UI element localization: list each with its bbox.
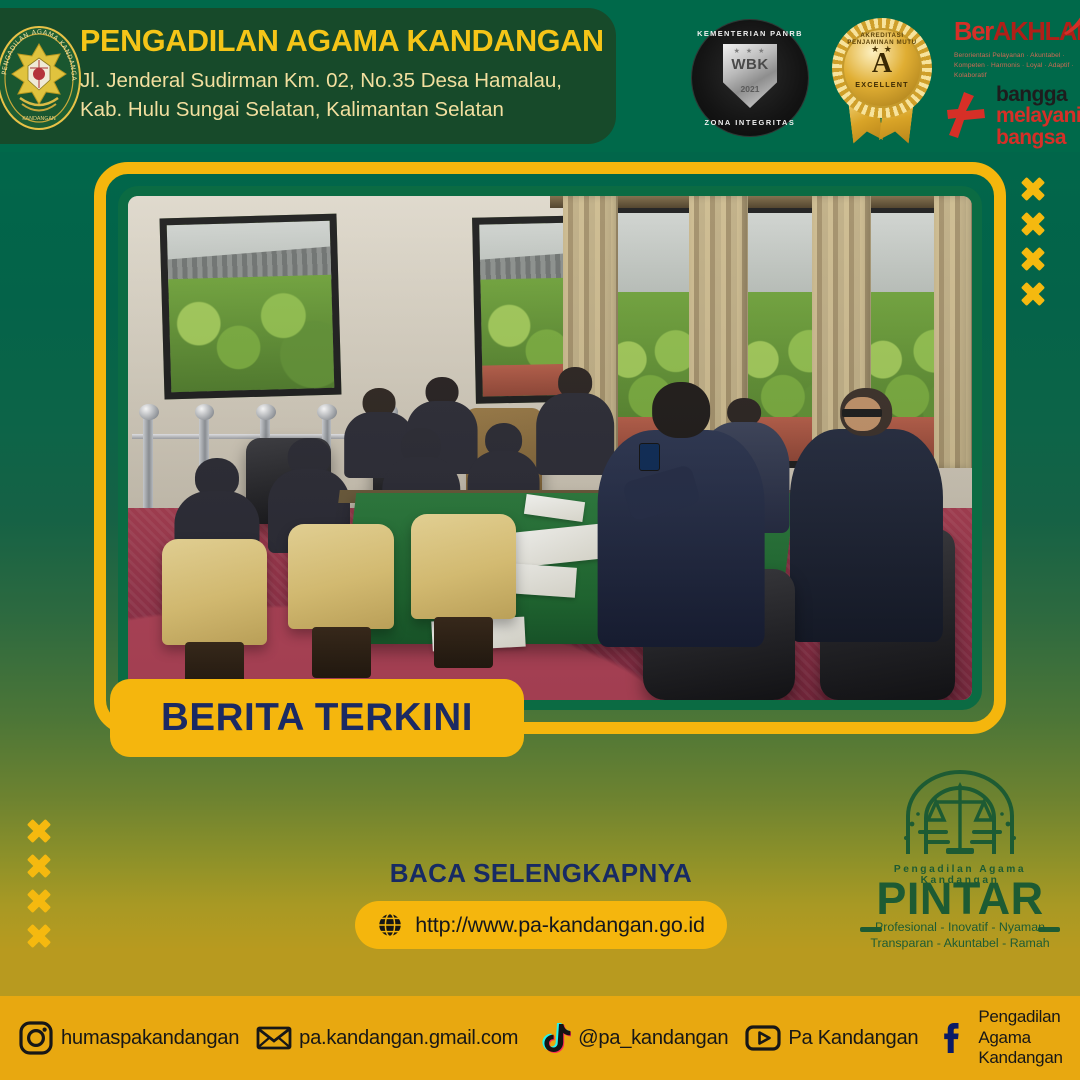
read-more-heading: BACA SELENGKAPNYA	[355, 858, 727, 889]
photo-inner-border	[118, 186, 982, 710]
wbk-year: 2021	[723, 84, 777, 94]
photo-yellow-chair	[162, 539, 268, 645]
tiktok-icon	[535, 1020, 571, 1056]
wbk-ring-bottom-label: ZONA INTEGRITAS	[692, 118, 808, 127]
berita-terkini-banner: BERITA TERKINI	[110, 679, 524, 757]
railing-knob	[195, 404, 214, 420]
social-item-email[interactable]: pa.kandangan.gmail.com	[256, 1020, 518, 1056]
pintar-tagline-2: Transparan - Akuntabel - Ramah	[858, 936, 1062, 950]
photo-yellow-chair	[411, 514, 517, 620]
berakhlak-swoosh-icon	[1062, 13, 1080, 35]
x-decor-column-left	[26, 818, 52, 949]
court-crest-logo: KANDANGAN PENGADILAN AGAMA KANDANGAN	[0, 24, 84, 132]
scales-of-justice-emblem	[898, 768, 1022, 868]
berita-terkini-label: BERITA TERKINI	[161, 696, 473, 740]
railing-knob	[317, 404, 336, 420]
social-item-instagram[interactable]: humaspakandangan	[18, 1020, 239, 1056]
photo-glasses	[842, 409, 882, 417]
wbk-label: WBK	[723, 56, 777, 73]
website-url-text: http://www.pa-kandangan.go.id	[415, 913, 704, 938]
bangga-line-2: melayani	[996, 105, 1080, 126]
bangga-melayani-bangsa-logo: bangga melayani bangsa	[944, 84, 1080, 146]
certification-badges: KEMENTERIAN PANRB ★ ★ ★ WBK 2021 ZONA IN…	[686, 8, 1080, 148]
berakhlak-ber: Ber	[954, 18, 993, 46]
read-more-section: BACA SELENGKAPNYA http://www.pa-kandanga…	[355, 858, 727, 949]
instagram-icon	[18, 1020, 54, 1056]
social-item-youtube[interactable]: Pa Kandangan	[745, 1020, 918, 1056]
facebook-page: Pengadilan Agama Kandangan	[978, 1007, 1080, 1068]
youtube-icon	[745, 1020, 781, 1056]
social-item-facebook[interactable]: Pengadilan Agama Kandangan	[935, 1007, 1080, 1068]
header-panel: KANDANGAN PENGADILAN AGAMA KANDANGAN PEN…	[0, 8, 616, 144]
wbk-ring-top-label: KEMENTERIAN PANRB	[692, 29, 808, 38]
x-cross-decor-icon	[1020, 281, 1046, 307]
website-url-button[interactable]: http://www.pa-kandangan.go.id	[355, 901, 727, 949]
pintar-tagline-1: Profesional - Inovatif - Nyaman	[858, 920, 1062, 934]
photo-person-foreground	[601, 382, 761, 634]
x-cross-decor-icon	[26, 888, 52, 914]
photo-person-judge	[795, 388, 938, 630]
x-cross-decor-icon	[26, 853, 52, 879]
bangga-wordmark: bangga melayani bangsa	[996, 84, 1080, 148]
svg-text:KANDANGAN: KANDANGAN	[22, 116, 56, 122]
x-cross-decor-icon	[1020, 246, 1046, 272]
photo-window	[159, 214, 341, 400]
x-cross-decor-icon	[1020, 211, 1046, 237]
email-address: pa.kandangan.gmail.com	[299, 1027, 518, 1050]
youtube-channel: Pa Kandangan	[788, 1027, 918, 1050]
photo-person	[542, 367, 610, 468]
instagram-handle: humaspakandangan	[61, 1027, 239, 1050]
wbk-stars: ★ ★ ★	[723, 47, 777, 55]
social-item-tiktok[interactable]: @pa_kandangan	[535, 1020, 728, 1056]
accreditation-rosette-badge: AKREDITASI PENJAMINAN MUTU ★ ★ A EXCELLE…	[826, 14, 938, 146]
x-cross-decor-icon	[26, 818, 52, 844]
bangga-line-1: bangga	[996, 84, 1080, 105]
photo-curtain	[934, 196, 972, 468]
tiktok-handle: @pa_kandangan	[578, 1027, 728, 1050]
pintar-logo: Pengadilan Agama Kandangan PINTAR Profes…	[858, 768, 1062, 950]
facebook-icon	[935, 1020, 971, 1056]
pintar-wordmark: PINTAR	[858, 876, 1062, 921]
photo-smartphone	[639, 443, 660, 471]
wbk-zona-integritas-badge: KEMENTERIAN PANRB ★ ★ ★ WBK 2021 ZONA IN…	[692, 20, 808, 136]
window-foliage	[168, 274, 334, 392]
berakhlak-subtitle: Berorientasi Pelayanan · Akuntabel · Kom…	[954, 51, 1080, 82]
email-icon	[256, 1020, 292, 1056]
x-cross-decor-icon	[1020, 176, 1046, 202]
photo-yellow-chair	[288, 524, 394, 630]
accreditation-grade-caption: EXCELLENT	[842, 80, 922, 89]
bangga-mark-icon	[944, 90, 994, 140]
poster-canvas: KANDANGAN PENGADILAN AGAMA KANDANGAN PEN…	[0, 0, 1080, 1080]
railing-knob	[256, 404, 275, 420]
railing-knob	[139, 404, 158, 420]
globe-icon	[377, 912, 403, 938]
berakhlak-logo: BerAKHLAK Berorientasi Pelayanan · Akunt…	[954, 20, 1080, 72]
photo-frame	[94, 162, 1006, 734]
railing-post	[143, 408, 152, 509]
x-cross-decor-icon	[26, 923, 52, 949]
accreditation-grade: A	[842, 50, 922, 78]
page-title: PENGADILAN AGAMA KANDANGAN	[80, 26, 600, 57]
bangga-line-3: bangsa	[996, 127, 1080, 148]
address-line-1: Jl. Jenderal Sudirman Km. 02, No.35 Desa…	[80, 66, 600, 95]
x-decor-column-right	[1020, 176, 1046, 307]
address-line-2: Kab. Hulu Sungai Selatan, Kalimantan Sel…	[80, 95, 600, 124]
meeting-room-photo	[128, 196, 972, 700]
header-text-block: PENGADILAN AGAMA KANDANGAN Jl. Jenderal …	[80, 26, 600, 124]
social-media-footer: humaspakandangan pa.kandangan.gmail.com	[0, 996, 1080, 1080]
